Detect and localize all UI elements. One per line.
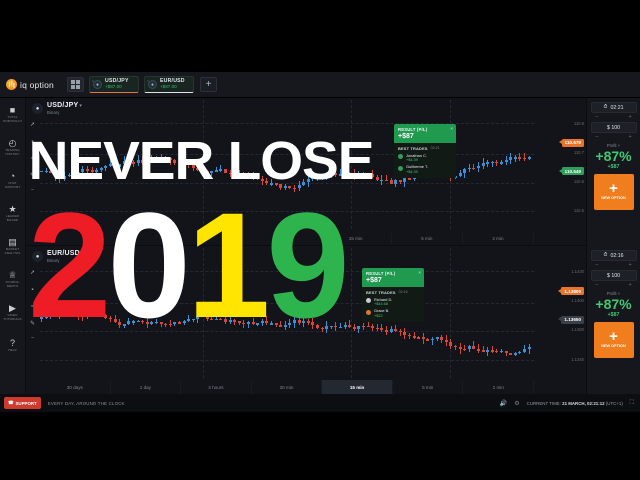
price-badge: 1.13800: [561, 287, 584, 295]
expiry-timer[interactable]: ⏱ 02:16: [591, 250, 637, 261]
sidebar-item-label: CHAT SUPPORT: [1, 182, 25, 189]
best-trades-label: BEST TRADES: [366, 290, 396, 295]
trader-amount: +$44.68: [374, 302, 392, 306]
tab-close-icon[interactable]: x: [147, 78, 149, 83]
tab-profit: +$87.00: [105, 85, 129, 90]
trade-panel-bottom[interactable]: ⏱ 02:16 – + $ 100 – + Profit + +87% +$87…: [586, 246, 640, 394]
expand-icon[interactable]: ⛶: [630, 400, 634, 407]
timer-decrease-button[interactable]: –: [596, 114, 599, 120]
timeframe-option[interactable]: 5 min: [392, 231, 463, 245]
amount-increase-button[interactable]: +: [629, 134, 632, 140]
tab-eurusd[interactable]: x ● EUR/USD +$87.00: [144, 76, 194, 93]
tab-usdjpy[interactable]: x ● USD/JPY +$87.00: [89, 76, 139, 93]
candle-body: [413, 336, 416, 338]
sidebar-item-6[interactable]: ▶VIDEO TUTORIALS: [0, 296, 25, 329]
candle-body: [523, 349, 526, 352]
best-trades-body: BEST TRADES 02:21 Jonathan C. +$4.39: [394, 143, 456, 179]
candle-body: [486, 350, 489, 352]
price-axis-bottom: 1.14301.14001.13801.13401.138001.13650: [534, 248, 586, 378]
candle-body: [394, 329, 397, 331]
sidebar-item-label: TOTAL PORTFOLIO: [1, 116, 25, 123]
list-item: Jonathan C. +$4.39: [398, 154, 452, 163]
year-digit-2: 2: [28, 205, 107, 325]
support-label: SUPPORT: [15, 401, 36, 406]
best-trades-body: BEST TRADES 02:16 Richard D. +$44.68: [362, 287, 424, 323]
axis-tick-label: 110.5: [574, 208, 584, 213]
candle-body: [477, 349, 480, 351]
result-title: RESULT (P/L): [398, 127, 452, 132]
close-icon[interactable]: ×: [418, 270, 421, 275]
price-badge: 110.679: [562, 139, 584, 147]
candle-body: [491, 162, 494, 164]
expiry-value: 02:21: [611, 105, 624, 111]
timeframe-option[interactable]: 2 min: [463, 380, 534, 394]
briefcase-icon: ■: [10, 106, 15, 115]
instrument-icon: ●: [32, 103, 43, 114]
candle-body: [367, 326, 370, 328]
sidebar-item-label: MARKET ANALYSIS: [1, 248, 25, 255]
amount-value: $ 100: [607, 273, 620, 279]
candle-body: [509, 353, 512, 355]
overlay-year: 2 0 1 9: [28, 205, 346, 325]
candle-body: [394, 180, 397, 183]
amount-value: $ 100: [607, 125, 620, 131]
year-digit-0: 0: [107, 205, 186, 325]
news-icon: ▤: [8, 238, 17, 247]
time-zone: (UTC+1): [606, 401, 623, 406]
trader-amount: +$4.39: [406, 170, 428, 174]
clock-icon: ⏱: [603, 104, 607, 111]
candle-body: [500, 162, 503, 164]
sidebar-item-7[interactable]: ?HELP: [0, 329, 25, 362]
time-prefix: CURRENT TIME:: [527, 401, 561, 406]
candle-body: [514, 353, 517, 355]
result-popup-bottom[interactable]: × RESULT (P/L) +$87 BEST TRADES 02:16 Ri…: [362, 268, 424, 322]
timer-increase-button[interactable]: +: [629, 114, 632, 120]
brand-logo[interactable]: iq option: [0, 79, 64, 90]
candle-body: [362, 326, 365, 328]
price-badge: 110.549: [562, 167, 584, 175]
candle-body: [353, 327, 356, 329]
result-value: +$87: [366, 277, 420, 284]
candle-body: [380, 180, 383, 182]
candle-body: [518, 157, 521, 159]
left-sidebar: ■TOTAL PORTFOLIO◴TRADING HISTORY◔CHAT SU…: [0, 98, 26, 394]
tab-close-icon[interactable]: x: [92, 78, 94, 83]
sidebar-item-2[interactable]: ◔CHAT SUPPORT: [0, 164, 25, 197]
tab-profit: +$87.00: [160, 85, 185, 90]
candle-body: [459, 173, 462, 176]
candle-body: [399, 331, 402, 333]
investment-amount[interactable]: $ 100: [591, 122, 637, 133]
candle-body: [518, 352, 521, 354]
list-item: Grace B. +$22: [366, 309, 420, 318]
play-icon: ▶: [9, 304, 16, 313]
candle-body: [505, 160, 508, 162]
new-option-button[interactable]: + NEW OPTION: [594, 322, 634, 358]
candle-body: [408, 335, 411, 337]
screenshot-stage: iq option x ● USD/JPY +$87.00 x ● EUR/US…: [0, 0, 640, 480]
candle-body: [408, 178, 411, 180]
sidebar-item-1[interactable]: ◴TRADING HISTORY: [0, 131, 25, 164]
sidebar-item-3[interactable]: ★LEADER BOARD: [0, 197, 25, 230]
gridline: [40, 123, 534, 124]
trader-amount: +$22: [374, 314, 389, 318]
expiry-timer[interactable]: ⏱ 02:21: [591, 102, 637, 113]
close-icon[interactable]: ×: [450, 126, 453, 131]
candle-body: [477, 166, 480, 169]
candle-body: [482, 350, 485, 353]
support-tagline: EVERY DAY, AROUND THE CLOCK: [48, 401, 125, 406]
year-digit-1: 1: [187, 205, 266, 325]
candle-body: [417, 337, 420, 339]
flag-icon: [398, 154, 403, 159]
grid-icon[interactable]: [67, 77, 84, 92]
profit-percent: +87%: [595, 149, 631, 163]
candle-body: [463, 349, 466, 351]
candle-body: [403, 332, 406, 335]
candle-body: [385, 330, 388, 332]
flag-icon: ●: [93, 80, 102, 89]
candle-body: [380, 328, 383, 330]
sidebar-item-label: TRADING HISTORY: [1, 149, 25, 156]
axis-tick-label: 110.6: [574, 179, 584, 184]
best-trades-time: 02:16: [399, 290, 408, 294]
brand-name: iq option: [20, 80, 54, 90]
candle-body: [422, 337, 425, 339]
candle-body: [509, 157, 512, 160]
plus-icon: +: [609, 183, 618, 195]
time-value: 21 MARCH, 02:21:12: [562, 401, 604, 406]
timeframe-option[interactable]: 30 min: [252, 380, 323, 394]
best-trades-label: BEST TRADES: [398, 146, 428, 151]
candle-body: [454, 346, 457, 348]
sidebar-item-label: VIDEO TUTORIALS: [1, 314, 25, 321]
amount-decrease-button[interactable]: –: [596, 134, 599, 140]
candle-body: [436, 337, 439, 339]
best-trades-header: BEST TRADES 02:16: [366, 290, 420, 295]
candle-body: [482, 163, 485, 166]
candle-body: [495, 162, 498, 164]
result-title: RESULT (P/L): [366, 271, 420, 276]
candle-body: [472, 168, 475, 170]
timeframe-option[interactable]: 2 min: [463, 231, 534, 245]
speaker-icon[interactable]: 🔊: [500, 400, 507, 407]
result-value: +$87: [398, 133, 452, 140]
amount-decrease-button[interactable]: –: [596, 282, 599, 288]
result-header: × RESULT (P/L) +$87: [394, 124, 456, 143]
candle-body: [357, 326, 360, 329]
candle-body: [505, 351, 508, 354]
candle-body: [445, 340, 448, 342]
clock-icon: ⏱: [603, 252, 607, 259]
current-time: CURRENT TIME: 21 MARCH, 02:21:12 (UTC+1): [527, 401, 623, 406]
trade-panel-top[interactable]: ⏱ 02:21 – + $ 100 – + Profit + +87% +$87…: [586, 98, 640, 246]
sidebar-item-label: HELP: [1, 349, 25, 353]
profit-amount: +$87: [608, 164, 620, 170]
sidebar-item-5[interactable]: ♕TOURNA- MENTS: [0, 263, 25, 296]
list-item: Guilherme T. +$4.39: [398, 165, 452, 174]
timer-increase-button[interactable]: +: [629, 262, 632, 268]
best-trades-header: BEST TRADES 02:21: [398, 146, 452, 151]
timeframe-option[interactable]: 30 days: [40, 380, 111, 394]
candle-body: [528, 157, 531, 159]
axis-tick-label: 1.1380: [571, 327, 584, 332]
logo-mark-icon: [6, 79, 17, 90]
axis-tick-label: 110.7: [574, 150, 584, 155]
best-trades-time: 02:21: [431, 146, 440, 150]
axis-tick-label: 1.1400: [571, 298, 584, 303]
candle-body: [486, 162, 489, 164]
candle-body: [376, 328, 379, 330]
investment-amount[interactable]: $ 100: [591, 270, 637, 281]
candle-body: [449, 342, 452, 345]
new-option-label: NEW OPTION: [601, 344, 625, 348]
gridline-v: [450, 248, 451, 378]
gear-icon[interactable]: ⚙: [514, 400, 519, 407]
question-icon: ?: [10, 339, 15, 348]
gridline-v: [351, 248, 352, 378]
candle-body: [500, 351, 503, 353]
timeframe-option[interactable]: 1 day: [111, 380, 182, 394]
chevron-down-icon[interactable]: ▾: [79, 103, 82, 109]
year-digit-9: 9: [266, 205, 345, 325]
clock-icon: ◴: [9, 139, 17, 148]
instrument-name: USD/JPY: [47, 102, 78, 109]
amount-increase-button[interactable]: +: [629, 282, 632, 288]
axis-tick-label: 110.8: [574, 121, 584, 126]
price-badge: 1.13650: [561, 316, 584, 324]
flag-icon: [366, 298, 371, 303]
new-option-button[interactable]: + NEW OPTION: [594, 174, 634, 210]
letterbox-top: [0, 0, 640, 72]
plus-icon: +: [609, 331, 618, 343]
candle-body: [376, 177, 379, 180]
candle-body: [431, 339, 434, 341]
flag-icon: [398, 166, 403, 171]
list-item: Richard D. +$44.68: [366, 298, 420, 307]
timeframe-option[interactable]: 5 min: [393, 380, 464, 394]
letterbox-bottom: [0, 412, 640, 480]
candle-body: [371, 326, 374, 328]
trophy-icon: ★: [8, 205, 16, 214]
gridline: [40, 360, 534, 361]
candle-body: [399, 180, 402, 182]
candle-body: [403, 178, 406, 181]
candle-body: [528, 347, 531, 349]
candle-body: [390, 329, 393, 332]
top-navigation-bar: iq option x ● USD/JPY +$87.00 x ● EUR/US…: [0, 72, 640, 98]
new-option-label: NEW OPTION: [601, 196, 625, 200]
candle-body: [440, 337, 443, 340]
timeframe-bar-bottom[interactable]: 30 days1 day3 hours30 min15 min5 min2 mi…: [40, 380, 534, 394]
result-popup-top[interactable]: × RESULT (P/L) +$87 BEST TRADES 02:21 Jo…: [394, 124, 456, 178]
chart-header[interactable]: ● USD/JPY ▾ Binary: [32, 102, 82, 115]
flag-icon: ●: [148, 80, 157, 89]
candle-body: [385, 180, 388, 182]
candle-body: [468, 168, 471, 170]
axis-tick-label: 1.1340: [571, 357, 584, 362]
timeframe-option[interactable]: 15 min: [322, 380, 393, 394]
sidebar-item-0[interactable]: ■TOTAL PORTFOLIO: [0, 98, 25, 131]
result-header: × RESULT (P/L) +$87: [362, 268, 424, 287]
headset-icon: ☎: [8, 400, 13, 406]
candle-body: [491, 350, 494, 352]
candle-body: [426, 339, 429, 341]
candle-body: [514, 157, 517, 159]
expiry-value: 02:16: [611, 253, 624, 259]
candle-body: [472, 346, 475, 349]
cup-icon: ♕: [8, 271, 16, 280]
sidebar-item-label: LEADER BOARD: [1, 215, 25, 222]
profit-percent: +87%: [595, 297, 631, 311]
status-bar: ☎ SUPPORT EVERY DAY, AROUND THE CLOCK 🔊 …: [0, 394, 640, 412]
overlay-headline: NEVER LOSE: [29, 136, 374, 187]
timer-decrease-button[interactable]: –: [596, 262, 599, 268]
candle-body: [348, 325, 351, 328]
instrument-type: Binary: [47, 110, 82, 115]
candle-body: [390, 180, 393, 183]
price-axis-top: 110.8110.7110.6110.5110.679110.549: [534, 100, 586, 229]
candle-body: [523, 158, 526, 160]
candle-body: [459, 347, 462, 349]
chat-icon: ◔: [10, 172, 15, 181]
profit-amount: +$87: [608, 312, 620, 318]
trader-amount: +$4.39: [406, 158, 427, 162]
candle-body: [463, 169, 466, 172]
candle-body: [468, 346, 471, 349]
add-instrument-button[interactable]: +: [200, 77, 217, 92]
axis-tick-label: 1.1430: [571, 269, 584, 274]
support-button[interactable]: ☎ SUPPORT: [4, 397, 41, 409]
sidebar-item-4[interactable]: ▤MARKET ANALYSIS: [0, 230, 25, 263]
flag-icon: [366, 310, 371, 315]
timeframe-option[interactable]: 3 hours: [181, 380, 252, 394]
candle-body: [495, 351, 498, 353]
sidebar-item-label: TOURNA- MENTS: [1, 281, 25, 288]
